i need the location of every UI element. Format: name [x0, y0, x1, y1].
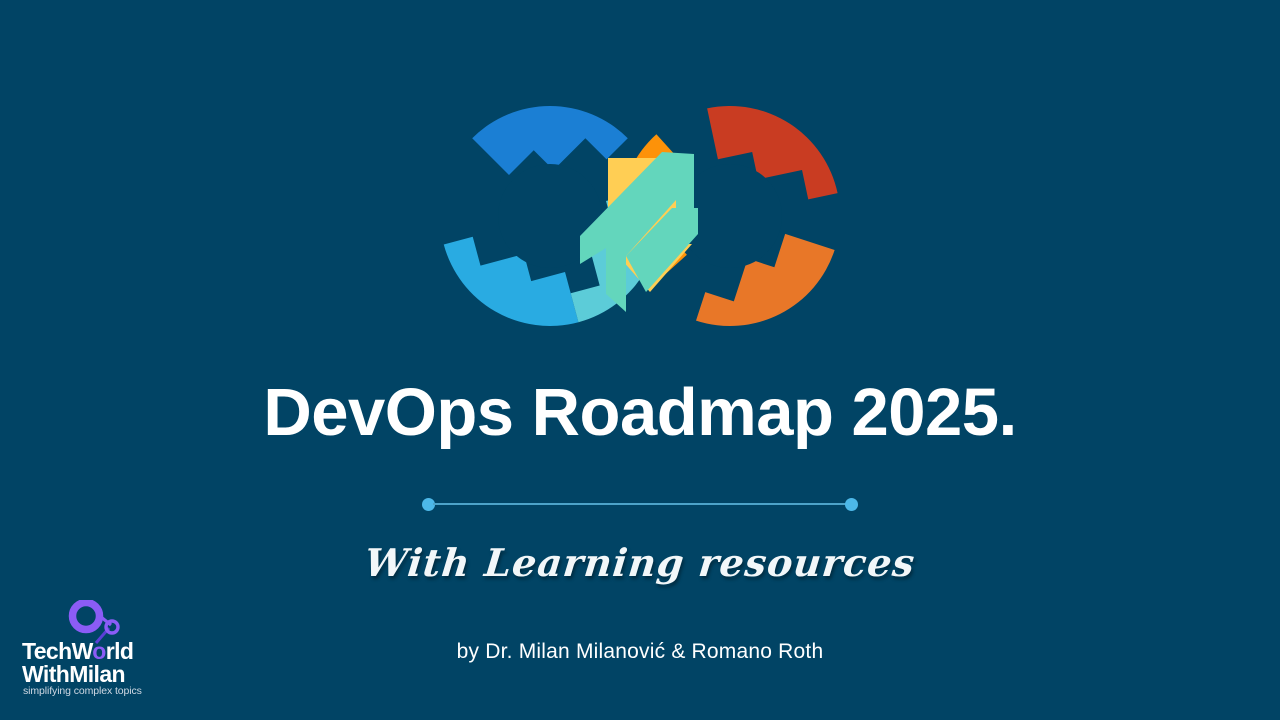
brand-name: TechWorld WithMilan — [22, 640, 154, 685]
brand-tagline: simplifying complex topics — [23, 685, 163, 697]
brand-name-line-2: WithMilan — [22, 663, 154, 686]
slide-subtitle: With Learning resources — [0, 540, 1280, 585]
divider-dot-right — [845, 498, 858, 511]
page-title: DevOps Roadmap 2025. — [0, 378, 1280, 448]
brand-name-line-1: TechWorld — [22, 640, 154, 663]
divider — [422, 497, 858, 511]
slide-canvas: DevOps Roadmap 2025. With Learning resou… — [0, 0, 1280, 720]
brand-logo: TechWorld WithMilan simplifying complex … — [22, 600, 154, 700]
authors-byline: by Dr. Milan Milanović & Romano Roth — [0, 640, 1280, 664]
divider-line — [433, 503, 847, 505]
devops-infinity-logo — [430, 96, 850, 336]
